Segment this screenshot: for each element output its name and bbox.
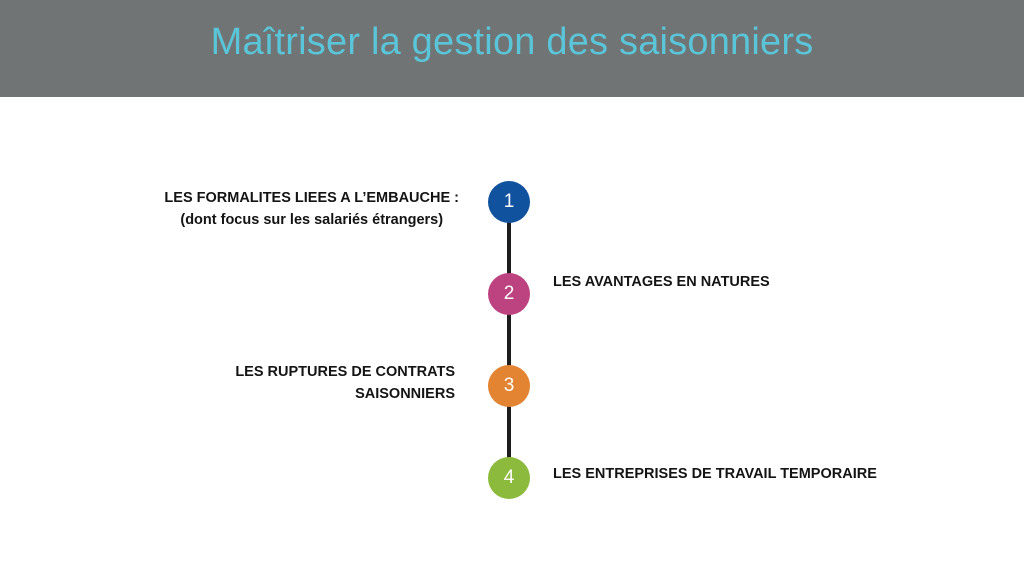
- timeline-node-4[interactable]: 4: [488, 457, 530, 499]
- timeline-spine: [507, 202, 511, 485]
- timeline-label-4: LES ENTREPRISES DE TRAVAIL TEMPORAIRE: [553, 463, 877, 485]
- timeline-label-3: LES RUPTURES DE CONTRATS SAISONNIERS: [235, 361, 455, 406]
- timeline-label-3-line2: SAISONNIERS: [235, 383, 455, 405]
- timeline-label-2-line1: LES AVANTAGES EN NATURES: [553, 274, 770, 290]
- timeline-label-1-line2: (dont focus sur les salariés étrangers): [164, 209, 459, 231]
- timeline-label-1: LES FORMALITES LIEES A L’EMBAUCHE : (don…: [164, 187, 459, 232]
- timeline-node-3[interactable]: 3: [488, 365, 530, 407]
- timeline-label-1-line1: LES FORMALITES LIEES A L’EMBAUCHE :: [164, 190, 459, 206]
- timeline-label-4-line1: LES ENTREPRISES DE TRAVAIL TEMPORAIRE: [553, 466, 877, 482]
- timeline-diagram: LES FORMALITES LIEES A L’EMBAUCHE : (don…: [0, 97, 1024, 568]
- timeline-label-2: LES AVANTAGES EN NATURES: [553, 271, 770, 293]
- timeline-node-2[interactable]: 2: [488, 273, 530, 315]
- slide-header-bar: Maîtriser la gestion des saisonniers: [0, 0, 1024, 97]
- timeline-label-3-line1: LES RUPTURES DE CONTRATS: [235, 364, 455, 380]
- timeline-node-1[interactable]: 1: [488, 181, 530, 223]
- page-title: Maîtriser la gestion des saisonniers: [0, 21, 1024, 64]
